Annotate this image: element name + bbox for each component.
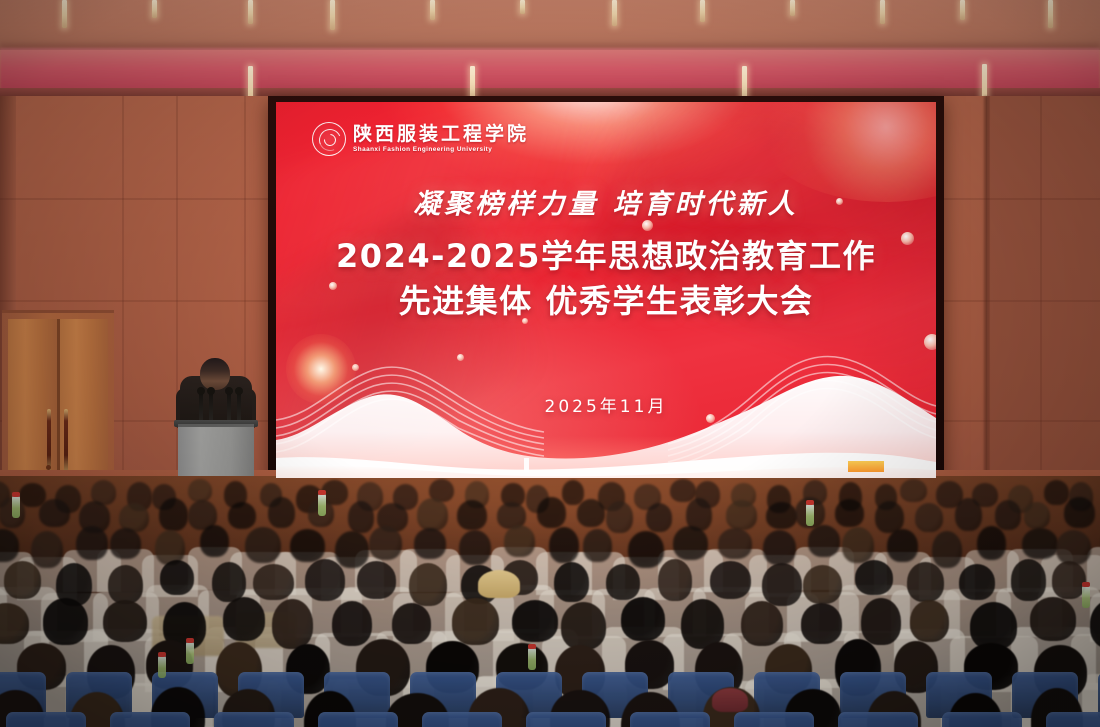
bokeh-dot-6	[457, 354, 464, 361]
audience-head	[710, 561, 751, 599]
pendant-light-6	[520, 0, 525, 14]
audience-head	[762, 563, 802, 606]
audience-seat	[422, 712, 502, 727]
bokeh-dot-3	[924, 334, 936, 350]
audience-head	[459, 530, 491, 565]
audience-head	[887, 529, 918, 562]
wall-seam-h-right-1	[944, 198, 1100, 200]
pendant-light-8	[700, 0, 705, 22]
audience-head	[1011, 559, 1046, 601]
water-bottle-cap-7	[806, 500, 814, 505]
audience-seat	[318, 712, 398, 727]
pendant-light-1	[62, 0, 67, 28]
pendant-light-3	[248, 0, 253, 24]
university-seal-icon	[312, 122, 346, 156]
audience-head	[228, 502, 256, 529]
pendant-light-10	[880, 0, 885, 24]
audience-head	[1044, 480, 1069, 505]
audience-seat	[838, 712, 918, 727]
audience-head	[646, 503, 673, 532]
pendant-light-5	[430, 0, 435, 20]
door-handle-right[interactable]	[64, 409, 68, 475]
audience-head	[995, 500, 1022, 530]
screen-slogan: 凝聚榜样力量 培育时代新人	[276, 182, 936, 221]
audience-head	[43, 598, 88, 645]
audience-head	[842, 527, 874, 563]
audience-head	[673, 526, 708, 560]
audience-head	[577, 499, 605, 527]
audience-head	[332, 601, 372, 646]
audience-head	[1030, 597, 1076, 641]
wall-seam-v-5	[1040, 96, 1042, 516]
audience-head	[763, 530, 796, 565]
screen-headline-block: 凝聚榜样力量 培育时代新人 2024-2025学年思想政治教育工作 先进集体 优…	[276, 182, 936, 325]
audience-head	[803, 565, 842, 604]
audience-head	[835, 499, 864, 527]
screen-title-line-2: 先进集体 优秀学生表彰大会	[276, 279, 936, 324]
water-bottle-4	[528, 648, 536, 670]
audience-head	[726, 500, 758, 530]
audience-head	[369, 526, 402, 560]
audience-head	[1056, 530, 1091, 565]
audience-head	[718, 528, 752, 559]
audience-seat	[1046, 712, 1100, 727]
water-bottle-3	[186, 642, 194, 664]
wall-seam-h-right-2	[944, 300, 1100, 302]
water-bottle-cap-6	[318, 490, 326, 495]
audience-head	[253, 564, 294, 600]
led-screen: 陕西服装工程学院 Shaanxi Fashion Engineering Uni…	[276, 102, 936, 478]
audience-head	[583, 529, 612, 562]
audience-head	[900, 479, 927, 502]
water-bottle-cap-4	[528, 644, 536, 649]
audience-head	[628, 531, 664, 568]
audience-head	[103, 600, 147, 642]
audience-head	[159, 498, 188, 531]
audience-head	[392, 603, 431, 644]
pendant-light-11	[960, 0, 965, 20]
audience-head	[110, 528, 141, 559]
pendant-light-4	[330, 0, 335, 30]
water-bottle-5	[1082, 586, 1090, 608]
audience-head	[910, 600, 949, 642]
audience-head	[606, 564, 640, 600]
audience-head	[801, 603, 842, 644]
audience-head	[305, 559, 345, 601]
audience-head	[31, 531, 63, 568]
audience-head	[977, 526, 1006, 560]
audience-head	[658, 559, 692, 601]
university-name-en: Shaanxi Fashion Engineering University	[353, 147, 529, 153]
beige-cap-icon	[478, 570, 520, 598]
audience-head	[76, 526, 108, 560]
ceremony-photo: 陕西服装工程学院 Shaanxi Fashion Engineering Uni…	[0, 0, 1100, 727]
audience-head	[554, 562, 589, 602]
audience-head	[855, 560, 893, 595]
audience-head	[932, 531, 962, 568]
audience-head	[907, 562, 944, 602]
audience-head	[417, 498, 448, 531]
wall-right-column	[986, 96, 1100, 516]
water-bottle-6	[318, 494, 326, 516]
audience-seat	[734, 712, 814, 727]
audience-head	[1064, 497, 1096, 528]
audience-head	[108, 565, 143, 604]
screen-title-line-1: 2024-2025学年思想政治教育工作	[276, 234, 936, 279]
audience-head	[549, 527, 579, 563]
university-logo-text: 陕西服装工程学院 Shaanxi Fashion Engineering Uni…	[353, 125, 529, 153]
audience-head	[414, 528, 446, 559]
audience-head	[621, 597, 665, 641]
screen-white-chip	[524, 458, 529, 472]
audience-head	[606, 501, 633, 533]
audience-head	[741, 601, 783, 646]
audience-head	[4, 561, 41, 599]
pendant-light-7	[612, 0, 617, 26]
audience-head	[457, 500, 487, 530]
university-logo: 陕西服装工程学院 Shaanxi Fashion Engineering Uni…	[312, 122, 529, 156]
audience-head	[504, 525, 535, 557]
wall-seam-v-1	[122, 96, 124, 516]
audience-head	[223, 597, 265, 641]
wall-seam-h-left-2	[0, 300, 268, 302]
audience-head	[348, 501, 374, 533]
audience	[0, 476, 1100, 727]
audience-head	[561, 602, 606, 650]
university-name-cn: 陕西服装工程学院	[353, 125, 529, 144]
audience-head	[959, 564, 995, 600]
wall-seam-v-4	[988, 96, 990, 516]
wall-seam-h-right-3	[944, 420, 1100, 422]
audience-head	[160, 560, 194, 595]
water-bottle-cap-1	[12, 492, 20, 497]
wall-seam-h-left-1	[0, 198, 268, 200]
audience-head	[766, 502, 797, 529]
audience-head	[452, 598, 499, 645]
audience-head	[200, 525, 229, 557]
pendant-light-9	[790, 0, 795, 16]
audience-seat	[110, 712, 190, 727]
water-bottle-cap-5	[1082, 582, 1090, 587]
audience-head	[268, 497, 295, 528]
audience-seat	[6, 712, 86, 727]
audience-head	[915, 503, 943, 532]
water-bottle-2	[158, 656, 166, 678]
water-bottle-1	[12, 496, 20, 518]
audience-head	[272, 599, 313, 649]
screen-orange-chip	[848, 461, 884, 472]
water-bottle-7	[806, 504, 814, 526]
audience-head	[955, 498, 982, 531]
audience-seat	[942, 712, 1022, 727]
audience-seat	[214, 712, 294, 727]
audience-head	[357, 561, 396, 599]
audience-head	[290, 529, 325, 562]
speaker-head	[200, 358, 230, 390]
audience-head	[409, 563, 447, 606]
audience-head	[512, 600, 558, 642]
screen-date: 2025年11月	[276, 392, 936, 417]
screen-bottom-tint	[276, 436, 936, 478]
audience-head	[1022, 528, 1058, 559]
audience-seat	[526, 712, 606, 727]
audience-head	[335, 531, 369, 568]
pendant-light-2	[152, 0, 157, 18]
audience-head	[245, 527, 281, 563]
water-bottle-cap-3	[186, 638, 194, 643]
pendant-light-12	[1048, 0, 1053, 28]
audience-head	[39, 499, 71, 527]
audience-head	[188, 479, 212, 502]
audience-head	[861, 598, 901, 645]
audience-seat	[630, 712, 710, 727]
water-bottle-cap-2	[158, 652, 166, 657]
maroon-cap-icon	[712, 688, 748, 712]
audience-head	[808, 525, 840, 557]
audience-head	[537, 497, 566, 528]
audience-head	[1024, 502, 1050, 529]
